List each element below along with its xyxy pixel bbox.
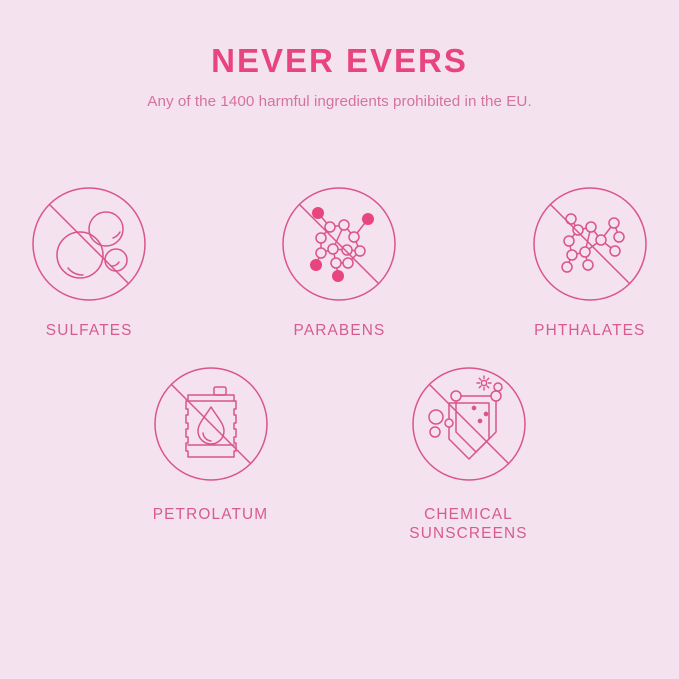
never-evers-grid: SULFATES [0, 185, 679, 544]
grid-item-sulfates: SULFATES [0, 185, 178, 341]
no-phthalates-molecule-icon [531, 185, 649, 303]
grid-item-phthalates: PHTHALATES [501, 185, 679, 341]
grid-item-label: PARABENS [294, 321, 386, 341]
header: NEVER EVERS Any of the 1400 harmful ingr… [0, 44, 679, 111]
no-sulfates-bubbles-icon [30, 185, 148, 303]
grid-item-label: PHTHALATES [534, 321, 645, 341]
grid-row-top: SULFATES [0, 185, 679, 341]
page-subtitle: Any of the 1400 harmful ingredients proh… [0, 93, 679, 111]
grid-item-label: SULFATES [46, 321, 133, 341]
grid-item-chemical-sunscreens: CHEMICAL SUNSCREENS [376, 365, 562, 544]
grid-item-parabens: PARABENS [250, 185, 428, 341]
grid-row-bottom: PETROLATUM [0, 365, 679, 544]
no-parabens-molecule-icon [280, 185, 398, 303]
no-chemical-sunscreens-icon [410, 365, 528, 483]
grid-item-label: CHEMICAL SUNSCREENS [409, 505, 527, 544]
no-petrolatum-barrel-icon [152, 365, 270, 483]
page-title: NEVER EVERS [0, 44, 679, 79]
grid-item-petrolatum: PETROLATUM [118, 365, 304, 525]
grid-item-label: PETROLATUM [153, 505, 269, 525]
never-evers-poster: NEVER EVERS Any of the 1400 harmful ingr… [0, 0, 679, 679]
